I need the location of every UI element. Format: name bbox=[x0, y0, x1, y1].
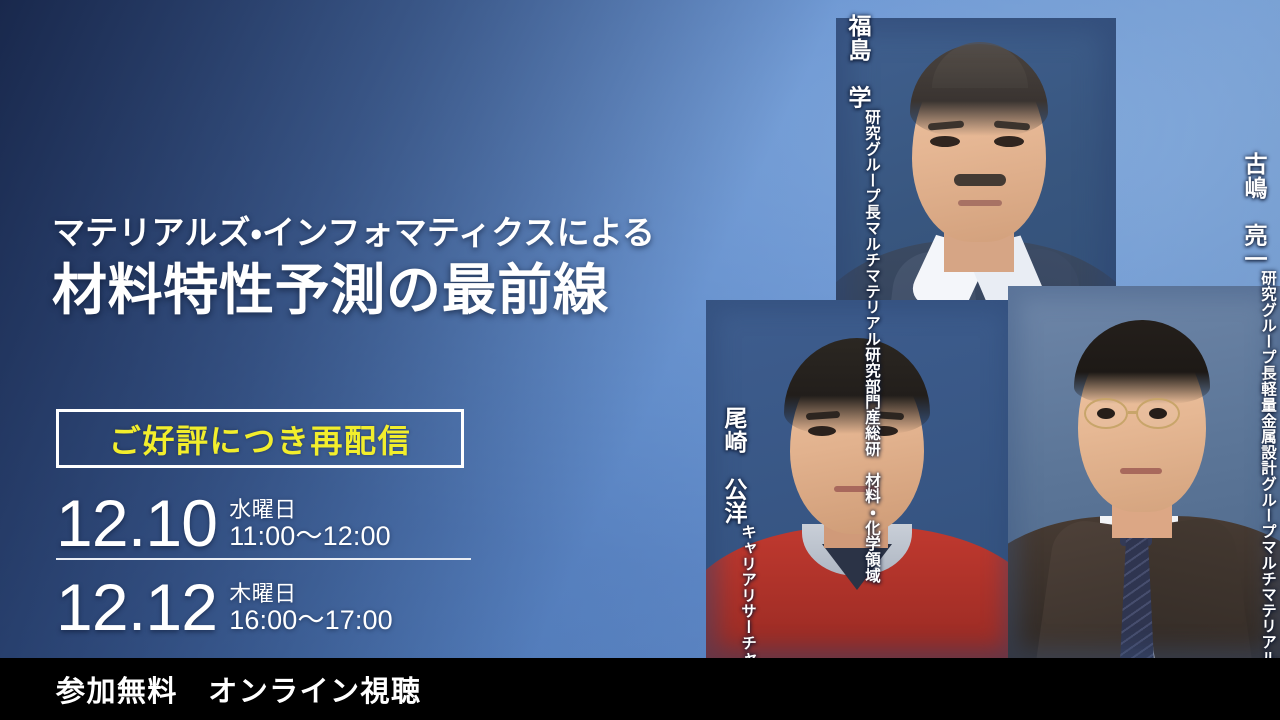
schedule-row-2: 12.12 木曜日 16:00〜17:00 bbox=[56, 562, 476, 640]
speaker-2-name: 古嶋 亮一 bbox=[1237, 152, 1270, 270]
navigator-name: 尾崎 公洋 bbox=[717, 406, 750, 524]
schedule-weekday-2: 木曜日 bbox=[229, 582, 393, 607]
schedule-date-1: 12.10 bbox=[56, 491, 217, 556]
speaker-2-caption: 産総研 材料・化学領域 マルチマテリアル研究部門 軽量金属設計グループ 研究グル… bbox=[1237, 152, 1278, 720]
title-subline: マテリアルズ・インフォマティクスによる bbox=[52, 214, 655, 253]
eye-left-shape bbox=[930, 136, 960, 147]
speaker-2-affiliation-line-3: 軽量金属設計グループ bbox=[1256, 381, 1278, 539]
speaker-1-affiliation-line-2: マルチマテリアル研究部門 bbox=[860, 220, 882, 410]
speaker-1-affiliation-line-1: 産総研 材料・化学領域 bbox=[860, 409, 882, 583]
schedule-list: 12.10 水曜日 11:00〜12:00 12.12 木曜日 16:00〜17… bbox=[56, 478, 476, 640]
schedule-weekday-1: 水曜日 bbox=[229, 498, 391, 523]
speaker-1-affiliation-line-3: 研究グループ長 bbox=[860, 109, 882, 220]
title-mainline: 材料特性予測の最前線 bbox=[52, 257, 655, 323]
speaker-1-caption: 産総研 材料・化学領域 マルチマテリアル研究部門 研究グループ長 福島 学 bbox=[841, 14, 882, 583]
speaker-1-name: 福島 学 bbox=[841, 14, 874, 109]
glasses-bridge-icon bbox=[1128, 411, 1138, 414]
schedule-meta-2: 木曜日 16:00〜17:00 bbox=[229, 582, 393, 636]
speaker-2-affiliation-line-4: 研究グループ長 bbox=[1256, 270, 1278, 381]
schedule-time-2: 16:00〜17:00 bbox=[229, 606, 393, 636]
webinar-banner: 産総研 材料・化学領域 マルチマテリアル研究部門 研究グループ長 福島 学 産総… bbox=[0, 0, 1280, 720]
footer-label: 参加無料 オンライン視聴 bbox=[56, 668, 421, 710]
schedule-date-2: 12.12 bbox=[56, 575, 217, 640]
eye-left-shape bbox=[1097, 408, 1115, 419]
schedule-row-1: 12.10 水曜日 11:00〜12:00 bbox=[56, 478, 476, 556]
moustache-shape bbox=[954, 174, 1006, 186]
schedule-time-1: 11:00〜12:00 bbox=[229, 522, 391, 552]
mouth-shape bbox=[1120, 468, 1162, 474]
rebroadcast-badge-label: ご好評につき再配信 bbox=[109, 416, 411, 462]
eye-right-shape bbox=[994, 136, 1024, 147]
banner-title: マテリアルズ・インフォマティクスによる 材料特性予測の最前線 bbox=[52, 214, 655, 323]
schedule-meta-1: 水曜日 11:00〜12:00 bbox=[229, 498, 391, 552]
eye-right-shape bbox=[1149, 408, 1167, 419]
mouth-shape bbox=[958, 200, 1002, 206]
footer-bar: 参加無料 オンライン視聴 bbox=[0, 658, 1280, 720]
rebroadcast-badge: ご好評につき再配信 bbox=[56, 409, 464, 468]
eye-left-shape bbox=[808, 426, 836, 436]
